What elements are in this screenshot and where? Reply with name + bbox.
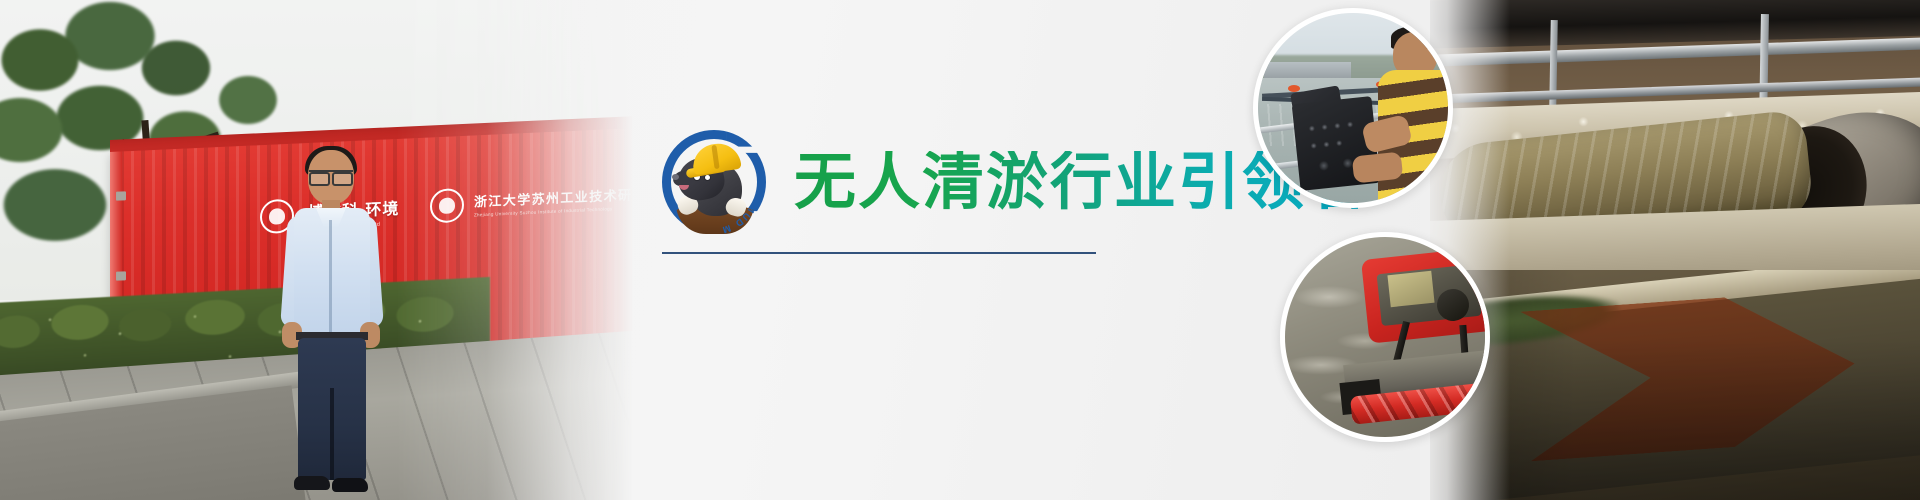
container-hinge: [116, 191, 126, 200]
engineer-leg-seam: [330, 388, 334, 480]
engineer-figure: [272, 150, 392, 500]
mud-mole-logo: MUD MOLE: [660, 128, 768, 236]
operator-with-control-console-photo: [1253, 8, 1453, 208]
operator-forearm: [1352, 151, 1404, 183]
container-and-engineer-photo: 博尔科·环境 BEKE Technology Co.,Ltd 浙江大学苏州工业技…: [0, 0, 640, 500]
robot-plate: [1387, 271, 1434, 307]
mud-channel-photo: [1430, 270, 1920, 500]
right-photo-group: [1430, 0, 1920, 500]
mole-nose-icon: [672, 174, 679, 180]
headline-divider: [662, 252, 1096, 254]
engineer-shirt-placket: [329, 220, 332, 332]
engineer-left-shoe: [294, 476, 330, 490]
institute-mark-icon: [430, 188, 464, 224]
center-message-block: MUD MOLE 无人清淤行业引领者: [660, 0, 1260, 500]
promo-banner: 博尔科·环境 BEKE Technology Co.,Ltd 浙江大学苏州工业技…: [0, 0, 1920, 500]
sludge-discharge-pipe-photo: [1430, 0, 1920, 290]
eyeglasses-icon: [309, 170, 353, 182]
container-hinge: [116, 271, 126, 280]
photo-vignette: [1430, 270, 1920, 500]
engineer-right-shoe: [332, 478, 368, 492]
dredging-robot-photo: [1280, 232, 1490, 442]
